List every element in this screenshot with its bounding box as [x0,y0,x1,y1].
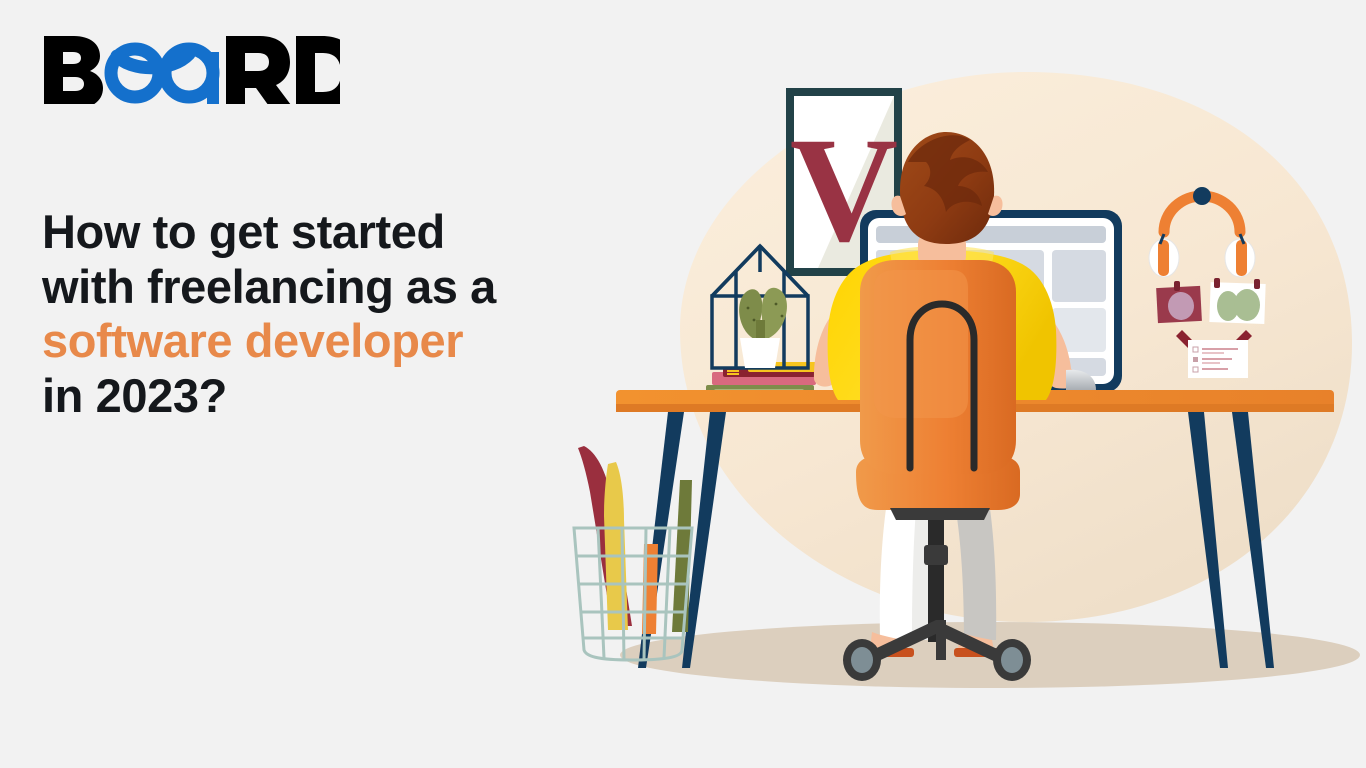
headline-line-3-accent: software developer [42,314,622,369]
logo-letter-b [44,36,103,104]
logo-letter-r [226,36,294,104]
office-chair [856,260,1020,520]
blog-banner: How to get started with freelancing as a… [0,0,1366,768]
hero-illustration: V [560,0,1366,768]
board-logo[interactable] [40,32,340,104]
headline-line-1: How to get started [42,205,622,260]
wire-basket-with-rolled-posters [574,446,692,660]
logo-letter-d [296,36,340,104]
headline-line-4: in 2023? [42,369,622,424]
illustration-svg: V [560,0,1366,768]
board-logo-svg [40,32,340,104]
headline-line-2: with freelancing as a [42,260,622,315]
page-title: How to get started with freelancing as a… [42,205,622,423]
pinned-photo-green [1209,278,1265,324]
plant-pot [740,338,780,368]
logo-a-stem [207,52,219,104]
headphone-peg [1193,187,1211,205]
left-content-column: How to get started with freelancing as a… [40,0,640,768]
logo-letter-oa-infinity [111,49,213,97]
